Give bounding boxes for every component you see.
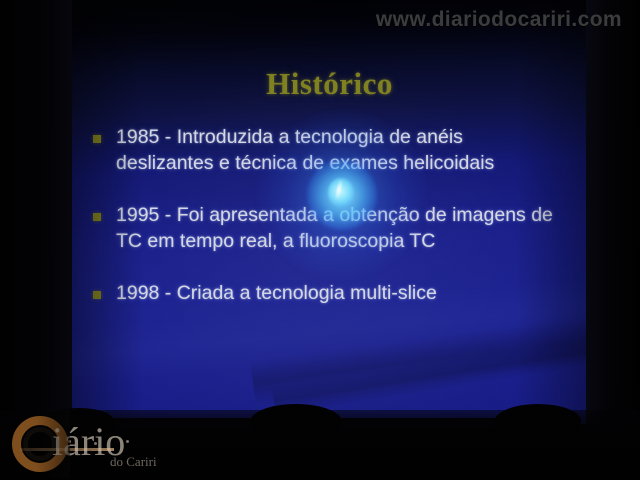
bullet-text: 1995 - Foi apresentada a obtenção de ima… [116,202,564,254]
slide-title: Histórico [71,66,588,102]
room-right-wall [586,0,640,480]
logo-subtitle: do Cariri [110,454,157,470]
logo-dot [126,440,129,443]
diario-do-cariri-logo: iário do Cariri [6,410,196,476]
bullet-text: 1998 - Criada a tecnologia multi-slice [116,280,437,306]
bullet-square-icon [93,135,101,143]
logo-ring-shadow [36,410,70,478]
bullet-square-icon [93,213,101,221]
projection-screen: Histórico 1985 - Introduzida a tecnologi… [71,0,588,424]
slide-bullet-list: 1985 - Introduzida a tecnologia de anéis… [93,124,585,332]
head-silhouette [495,404,581,438]
list-item: 1985 - Introduzida a tecnologia de anéis… [93,124,585,176]
list-item: 1995 - Foi apresentada a obtenção de ima… [93,202,585,254]
head-silhouette [250,404,342,440]
room-left-wall [0,0,72,480]
list-item: 1998 - Criada a tecnologia multi-slice [93,280,585,306]
photo-canvas: Histórico 1985 - Introduzida a tecnologi… [0,0,640,480]
bullet-square-icon [93,291,101,299]
bullet-text: 1985 - Introduzida a tecnologia de anéis… [116,124,564,176]
site-watermark: www.diariodocariri.com [376,8,622,32]
screen-shadow-band [271,318,588,416]
